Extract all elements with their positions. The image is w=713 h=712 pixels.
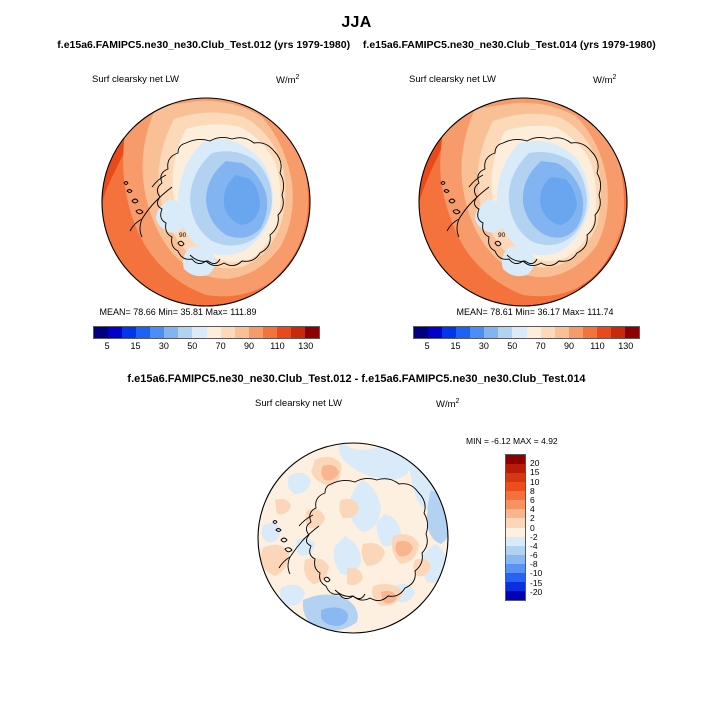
- colorbar-cell-3: [456, 327, 470, 338]
- colorbar-difference: 20151086420-2-4-6-8-10-15-20: [505, 454, 561, 601]
- colorbar-cell-6: [498, 327, 512, 338]
- units-text: W/m: [276, 75, 296, 86]
- colorbar-cell-15: [625, 327, 639, 338]
- map-case1-svg: 90: [94, 95, 318, 309]
- map-difference-fills: [245, 440, 461, 636]
- case-subtitle: f.e15a6.FAMIPC5.ne30_ne30.Club_Test.012 …: [0, 39, 713, 51]
- colorbar-diff-cell-7: [506, 518, 525, 527]
- colorbar-tick-50: 50: [187, 341, 197, 351]
- panel-case2-stats: MEAN= 78.61 Min= 36.17 Max= 111.74: [357, 307, 713, 317]
- colorbar-diff-cell-1: [506, 464, 525, 473]
- colorbar-case1: 51530507090110130: [93, 326, 320, 355]
- colorbar-diff-cell-4: [506, 491, 525, 500]
- colorbar-case2: 51530507090110130: [413, 326, 640, 355]
- colorbar-cell-4: [470, 327, 484, 338]
- colorbar-diff-cell-15: [506, 591, 525, 600]
- colorbar-diff-cell-9: [506, 537, 525, 546]
- colorbar-tick-5: 5: [105, 341, 110, 351]
- panel-case2-variable-label: Surf clearsky net LW: [409, 74, 496, 85]
- colorbar-case2-ticks: 51530507090110130: [413, 341, 640, 355]
- colorbar-case1-cells: [93, 326, 320, 339]
- colorbar-cell-1: [108, 327, 122, 338]
- panel-case2: Surf clearsky net LW W/m2: [357, 60, 713, 360]
- colorbar-cell-14: [611, 327, 625, 338]
- colorbar-cell-3: [136, 327, 150, 338]
- colorbar-tick-30: 30: [159, 341, 169, 351]
- colorbar-tick-90: 90: [564, 341, 574, 351]
- colorbar-tick-130: 130: [618, 341, 633, 351]
- colorbar-cell-13: [277, 327, 291, 338]
- colorbar-difference-cells: [505, 454, 526, 601]
- colorbar-cell-11: [249, 327, 263, 338]
- map-case2-svg: 90: [411, 95, 635, 309]
- case1-label: f.e15a6.FAMIPC5.ne30_ne30.Club_Test.012 …: [57, 39, 350, 51]
- colorbar-tick-15: 15: [451, 341, 461, 351]
- colorbar-diff-tick-neg20: -20: [530, 587, 542, 597]
- colorbar-cell-5: [484, 327, 498, 338]
- map-case2-contour-label: 90: [498, 232, 506, 239]
- map-case1-fills: [94, 95, 318, 309]
- colorbar-cell-10: [235, 327, 249, 338]
- map-case2: 90: [411, 95, 635, 309]
- colorbar-case1-ticks: 51530507090110130: [93, 341, 320, 355]
- panel-difference-units: W/m2: [436, 398, 459, 410]
- colorbar-cell-15: [305, 327, 319, 338]
- colorbar-cell-12: [583, 327, 597, 338]
- case2-label: f.e15a6.FAMIPC5.ne30_ne30.Club_Test.014 …: [363, 39, 656, 51]
- colorbar-difference-labels: 20151086420-2-4-6-8-10-15-20: [530, 454, 560, 601]
- colorbar-diff-cell-5: [506, 500, 525, 509]
- colorbar-tick-15: 15: [131, 341, 141, 351]
- units-exponent: 2: [296, 74, 300, 81]
- colorbar-diff-cell-2: [506, 473, 525, 482]
- colorbar-diff-cell-6: [506, 509, 525, 518]
- page-title: JJA: [0, 14, 713, 32]
- units-exponent: 2: [456, 398, 460, 405]
- units-text: W/m: [436, 399, 456, 410]
- map-difference: [245, 440, 461, 636]
- colorbar-diff-cell-0: [506, 455, 525, 464]
- colorbar-diff-cell-11: [506, 555, 525, 564]
- colorbar-tick-70: 70: [216, 341, 226, 351]
- colorbar-cell-2: [442, 327, 456, 338]
- colorbar-tick-110: 110: [270, 341, 284, 351]
- colorbar-cell-4: [150, 327, 164, 338]
- colorbar-tick-70: 70: [536, 341, 546, 351]
- colorbar-tick-110: 110: [590, 341, 604, 351]
- colorbar-cell-0: [414, 327, 428, 338]
- colorbar-cell-7: [512, 327, 526, 338]
- panel-case1: Surf clearsky net LW W/m2: [0, 60, 356, 360]
- colorbar-diff-cell-14: [506, 582, 525, 591]
- colorbar-cell-2: [122, 327, 136, 338]
- colorbar-cell-11: [569, 327, 583, 338]
- colorbar-cell-0: [94, 327, 108, 338]
- difference-title: f.e15a6.FAMIPC5.ne30_ne30.Club_Test.012 …: [0, 373, 713, 385]
- colorbar-tick-90: 90: [244, 341, 254, 351]
- colorbar-tick-30: 30: [479, 341, 489, 351]
- colorbar-cell-13: [597, 327, 611, 338]
- colorbar-cell-9: [221, 327, 235, 338]
- colorbar-tick-50: 50: [507, 341, 517, 351]
- colorbar-diff-cell-12: [506, 564, 525, 573]
- colorbar-cell-9: [541, 327, 555, 338]
- map-case1: 90: [94, 95, 318, 309]
- colorbar-case2-cells: [413, 326, 640, 339]
- panel-difference-minmax: MIN = -6.12 MAX = 4.92: [466, 436, 558, 446]
- colorbar-cell-1: [428, 327, 442, 338]
- map-difference-svg: [245, 440, 461, 636]
- panel-difference-variable-label: Surf clearsky net LW: [255, 398, 342, 409]
- map-case2-fills: [411, 95, 635, 309]
- units-text: W/m: [593, 75, 613, 86]
- figure-canvas: JJA f.e15a6.FAMIPC5.ne30_ne30.Club_Test.…: [0, 0, 713, 712]
- colorbar-cell-8: [527, 327, 541, 338]
- colorbar-diff-cell-13: [506, 573, 525, 582]
- colorbar-tick-130: 130: [298, 341, 313, 351]
- colorbar-cell-6: [178, 327, 192, 338]
- colorbar-diff-cell-8: [506, 528, 525, 537]
- units-exponent: 2: [613, 74, 617, 81]
- colorbar-diff-cell-3: [506, 482, 525, 491]
- colorbar-diff-cell-10: [506, 546, 525, 555]
- panel-case1-variable-label: Surf clearsky net LW: [92, 74, 179, 85]
- colorbar-cell-8: [207, 327, 221, 338]
- colorbar-cell-14: [291, 327, 305, 338]
- panel-case1-units: W/m2: [276, 74, 299, 86]
- colorbar-cell-12: [263, 327, 277, 338]
- map-case1-contour-label: 90: [179, 232, 187, 239]
- colorbar-cell-7: [192, 327, 206, 338]
- colorbar-cell-5: [164, 327, 178, 338]
- panel-difference: Surf clearsky net LW W/m2 MIN = -6.12 MA…: [0, 392, 713, 652]
- colorbar-cell-10: [555, 327, 569, 338]
- panel-case1-stats: MEAN= 78.66 Min= 35.81 Max= 111.89: [0, 307, 356, 317]
- panel-case2-units: W/m2: [593, 74, 616, 86]
- colorbar-tick-5: 5: [425, 341, 430, 351]
